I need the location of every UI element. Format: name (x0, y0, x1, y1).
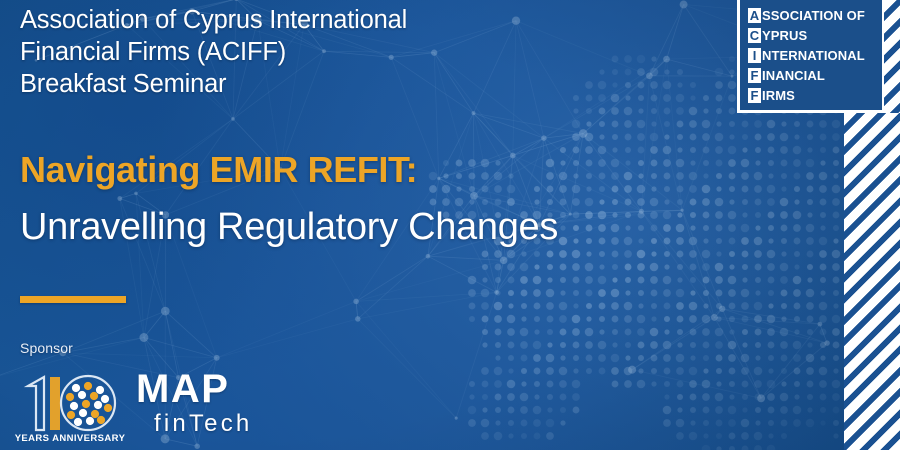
aciff-logo-row: F INANCIAL (748, 65, 876, 85)
accent-divider (20, 296, 126, 303)
aciff-initial-c: C (748, 28, 761, 43)
aciff-logo-row: C YPRUS (748, 25, 876, 45)
aciff-initial-f1: F (748, 68, 761, 83)
aciff-logo[interactable]: A SSOCIATION OF C YPRUS I NTERNATIONAL F… (737, 0, 885, 113)
aciff-word-firms: IRMS (762, 88, 795, 103)
anniversary-caption: YEARS ANNIVERSARY (15, 433, 126, 444)
aciff-word-international: NTERNATIONAL (762, 48, 865, 63)
ten-years-anniversary-icon: YEARS ANNIVERSARY (14, 366, 126, 446)
map-wordmark-primary: MAP (136, 369, 229, 409)
organisation-kicker: Association of Cyprus International Fina… (20, 4, 580, 100)
aciff-initial-a: A (748, 8, 761, 23)
page-title: Navigating EMIR REFIT: Unravelling Regul… (20, 148, 720, 250)
seminar-banner: Association of Cyprus International Fina… (0, 0, 900, 450)
diagonal-stripes-band (844, 113, 900, 450)
kicker-line-1: Association of Cyprus International (20, 4, 580, 36)
title-subtitle: Unravelling Regulatory Changes (20, 204, 720, 250)
aciff-initial-i: I (748, 48, 761, 63)
title-highlight: Navigating EMIR REFIT: (20, 148, 720, 192)
kicker-line-3: Breakfast Seminar (20, 68, 580, 100)
aciff-word-association: SSOCIATION OF (762, 8, 865, 23)
aciff-logo-row: A SSOCIATION OF (748, 5, 876, 25)
aciff-initial-f2: F (748, 88, 761, 103)
diagonal-stripes-top (884, 0, 900, 113)
aciff-word-cyprus: YPRUS (762, 28, 807, 43)
kicker-line-2: Financial Firms (ACIFF) (20, 36, 580, 68)
aciff-logo-row: F IRMS (748, 85, 876, 105)
map-wordmark-secondary: finTech (154, 411, 252, 437)
aciff-logo-row: I NTERNATIONAL (748, 45, 876, 65)
sponsor-logo-group[interactable]: YEARS ANNIVERSARY MAP finTech (14, 366, 252, 446)
map-fintech-wordmark[interactable]: MAP finTech (136, 369, 252, 437)
sponsor-label: Sponsor (20, 340, 73, 356)
aciff-word-financial: INANCIAL (762, 68, 825, 83)
